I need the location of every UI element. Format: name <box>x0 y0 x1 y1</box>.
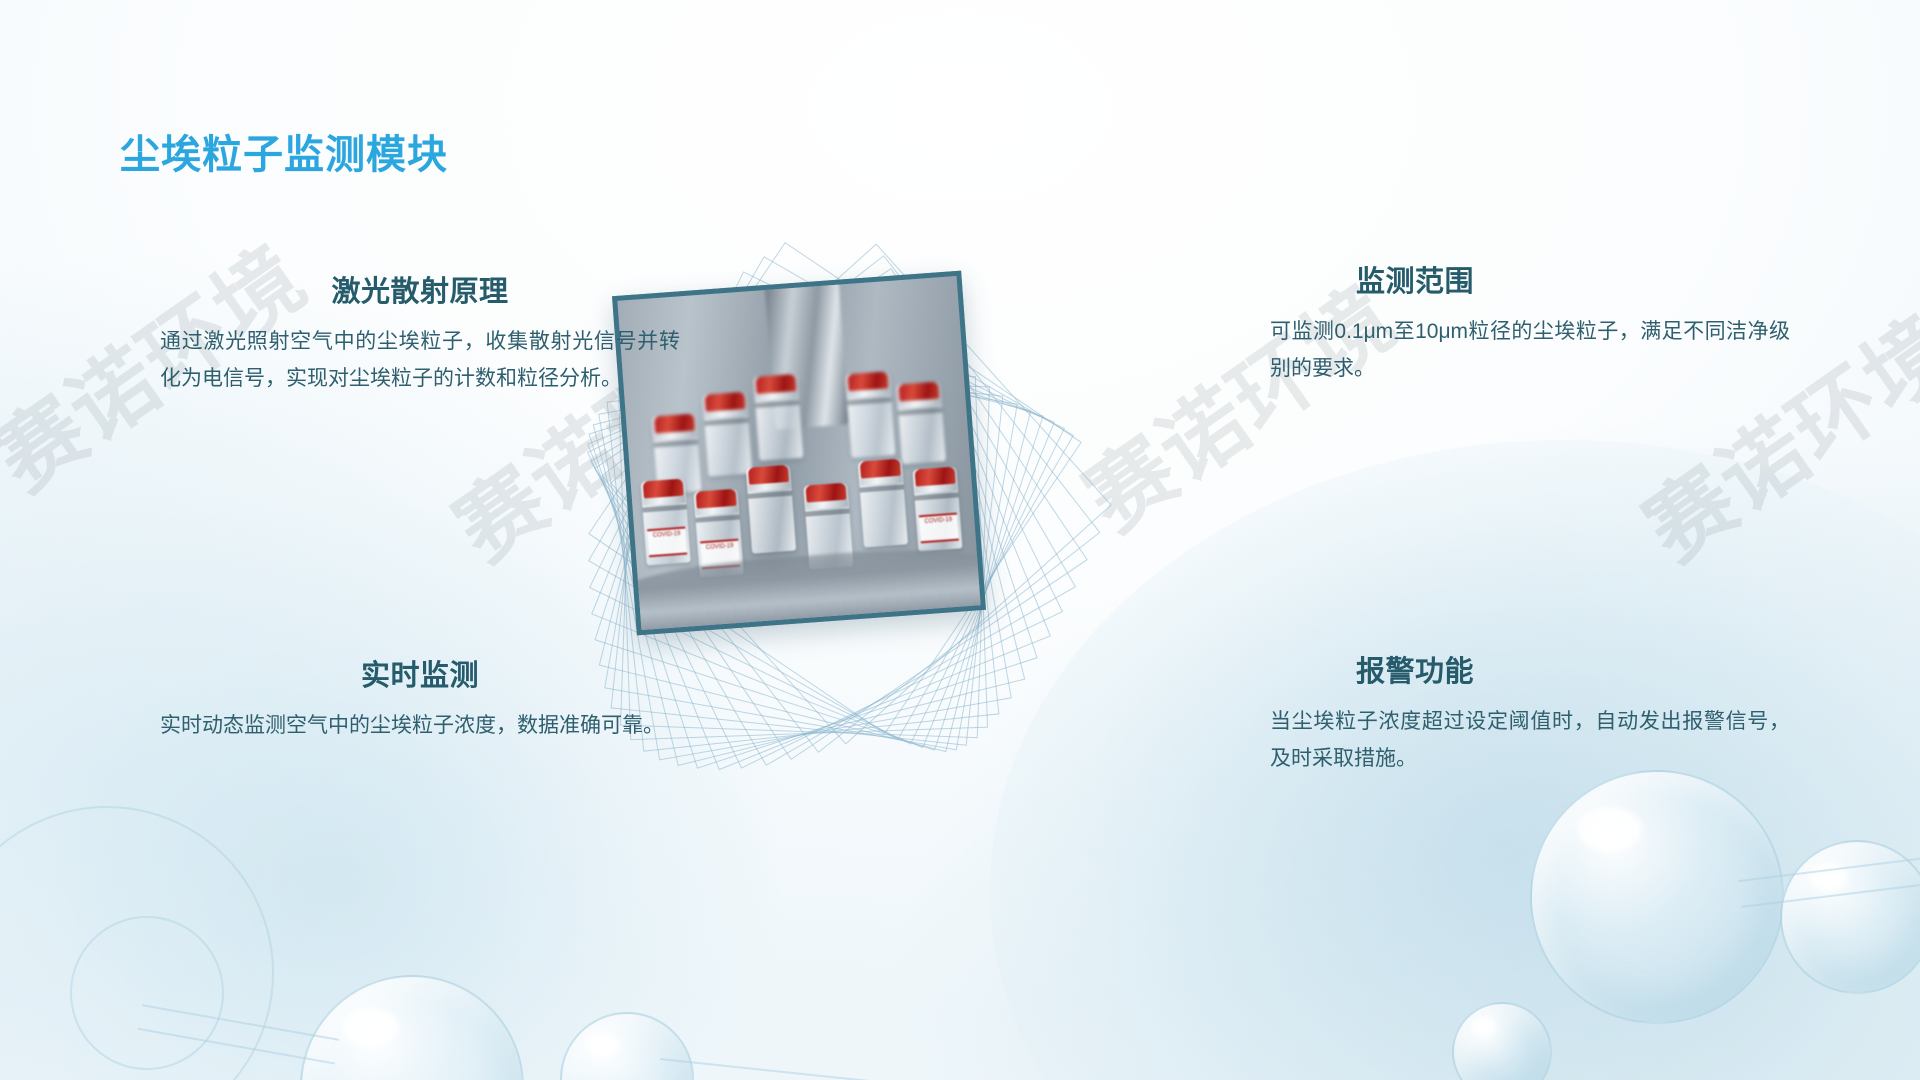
feature-heading-alarm-function: 报警功能 <box>1270 648 1560 690</box>
feature-block-realtime-monitoring: 实时监测 实时动态监测空气中的尘埃粒子浓度，数据准确可靠。 <box>160 652 680 745</box>
vial-label: COVID-19 <box>647 527 687 558</box>
feature-block-alarm-function: 报警功能 当尘埃粒子浓度超过设定阈值时，自动发出报警信号，及时采取措施。 <box>1270 648 1790 778</box>
page-title: 尘埃粒子监测模块 <box>120 122 448 180</box>
feature-body-monitoring-range: 可监测0.1μm至10μm粒径的尘埃粒子，满足不同洁净级别的要求。 <box>1270 314 1790 388</box>
ring-decoration-left-inner <box>70 916 224 1070</box>
feature-heading-laser-principle: 激光散射原理 <box>160 268 680 310</box>
feature-heading-realtime-monitoring: 实时监测 <box>160 652 680 694</box>
feature-body-realtime-monitoring: 实时动态监测空气中的尘埃粒子浓度，数据准确可靠。 <box>160 708 680 745</box>
feature-body-alarm-function: 当尘埃粒子浓度超过设定阈值时，自动发出报警信号，及时采取措施。 <box>1270 704 1790 778</box>
vial-label: COVID-19 <box>919 513 959 544</box>
feature-block-monitoring-range: 监测范围 可监测0.1μm至10μm粒径的尘埃粒子，满足不同洁净级别的要求。 <box>1270 258 1790 388</box>
slide-canvas: 赛诺环境 赛诺环境 赛诺环境 赛诺环境 <box>0 0 1920 1080</box>
feature-body-laser-principle: 通过激光照射空气中的尘埃粒子，收集散射光信号并转化为电信号，实现对尘埃粒子的计数… <box>160 324 680 398</box>
feature-heading-monitoring-range: 监测范围 <box>1270 258 1560 300</box>
feature-block-laser-principle: 激光散射原理 通过激光照射空气中的尘埃粒子，收集散射光信号并转化为电信号，实现对… <box>160 268 680 398</box>
